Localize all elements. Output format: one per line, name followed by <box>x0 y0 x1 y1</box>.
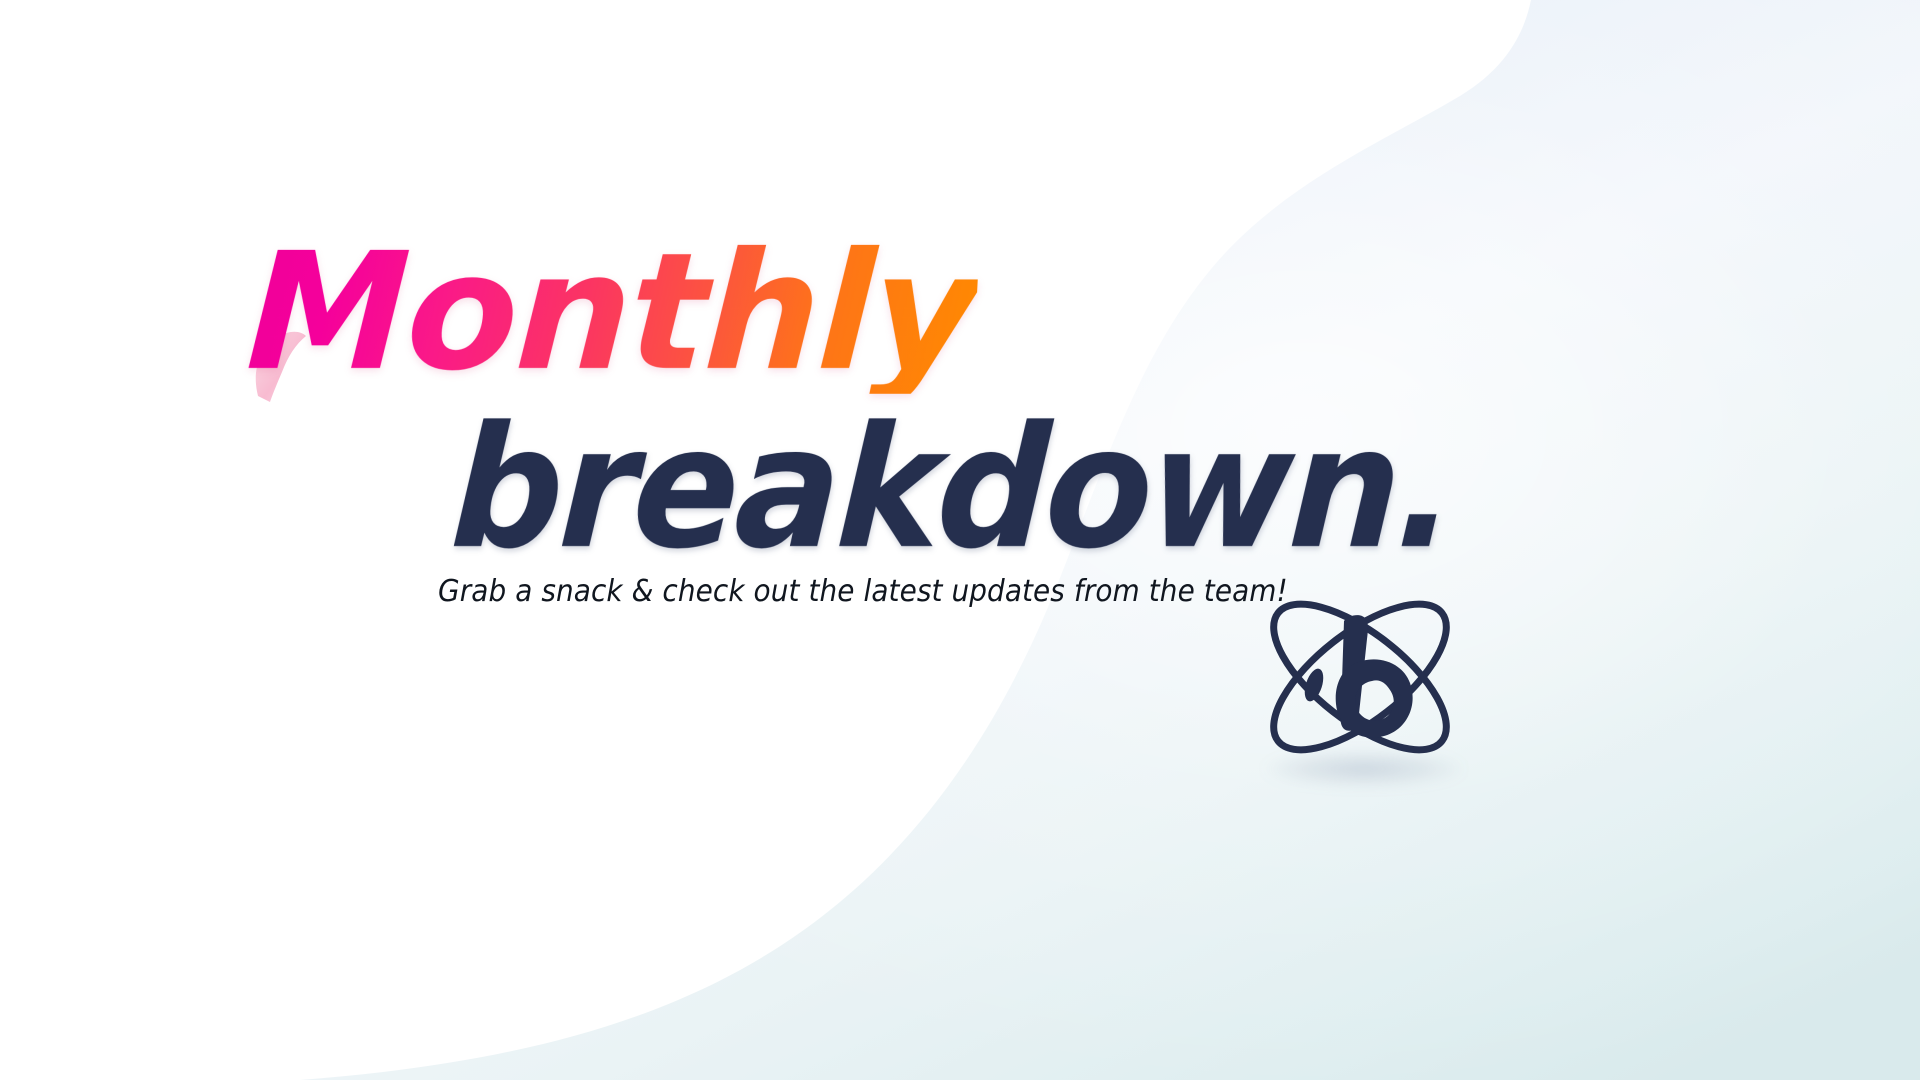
headline-block: Monthly breakdown. Grab a snack & check … <box>0 0 1920 1080</box>
pink-swoosh <box>256 332 306 402</box>
hero-banner: Monthly breakdown. Grab a snack & check … <box>0 0 1920 1080</box>
curved-blue-blob <box>0 0 1920 1080</box>
blob-highlight <box>300 0 1920 1080</box>
headline-line-breakdown: breakdown. <box>448 404 1458 572</box>
brand-atom-b-logo <box>1248 573 1472 781</box>
subtitle-text: Grab a snack & check out the latest upda… <box>438 574 1288 610</box>
headline-line-monthly: Monthly <box>244 232 980 394</box>
blob-shape <box>300 0 1920 1080</box>
